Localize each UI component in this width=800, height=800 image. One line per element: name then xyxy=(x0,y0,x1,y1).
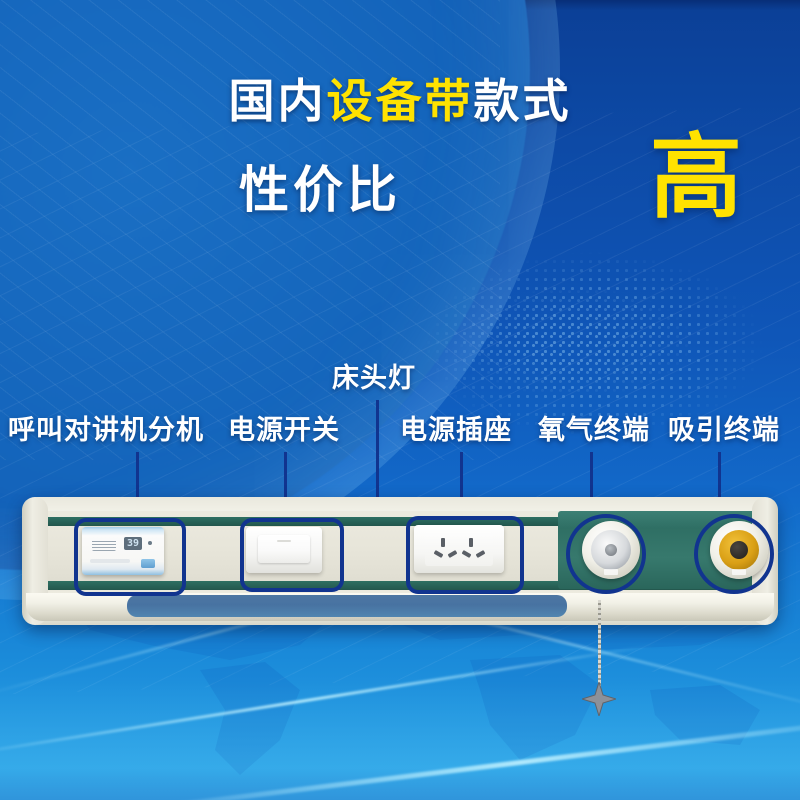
callout-label-power-switch: 电源开关 xyxy=(228,408,340,447)
panel-reflection xyxy=(127,595,567,617)
highlight-oxygen-terminal xyxy=(566,514,646,594)
headline-part-2: 款式 xyxy=(474,74,572,128)
callout-label-intercom: 呼叫对讲机分机 xyxy=(8,408,204,447)
callout-label-bed-lamp: 床头灯 xyxy=(332,356,416,395)
headline-highlight: 设备带 xyxy=(327,74,474,128)
headline-block: 国内设备带款式 性价比 高 xyxy=(0,78,800,240)
callout-label-oxygen-terminal: 氧气终端 xyxy=(538,408,650,447)
headline-emphasis-char: 高 xyxy=(650,132,742,224)
headline-part-1: 国内 xyxy=(229,74,327,128)
callout-label-power-socket: 电源插座 xyxy=(400,408,512,447)
highlight-power-switch xyxy=(240,518,344,592)
callout-labels: 呼叫对讲机分机 电源开关 床头灯 电源插座 氧气终端 吸引终端 xyxy=(0,352,800,462)
highlight-intercom xyxy=(74,518,186,596)
highlight-power-socket xyxy=(406,516,524,594)
headline-line-1: 国内设备带款式 xyxy=(0,78,800,124)
promo-banner: 国内设备带款式 性价比 高 呼叫对讲机分机 电源开关 床头灯 电源插座 氧气终端… xyxy=(0,0,800,800)
pull-chain-weight-icon[interactable] xyxy=(582,682,616,716)
highlight-suction-terminal xyxy=(694,514,774,594)
suction-pull-chain[interactable] xyxy=(598,600,601,688)
headline-line-2-wrap: 性价比 高 xyxy=(0,150,800,240)
callout-label-suction-terminal: 吸引终端 xyxy=(668,408,780,447)
